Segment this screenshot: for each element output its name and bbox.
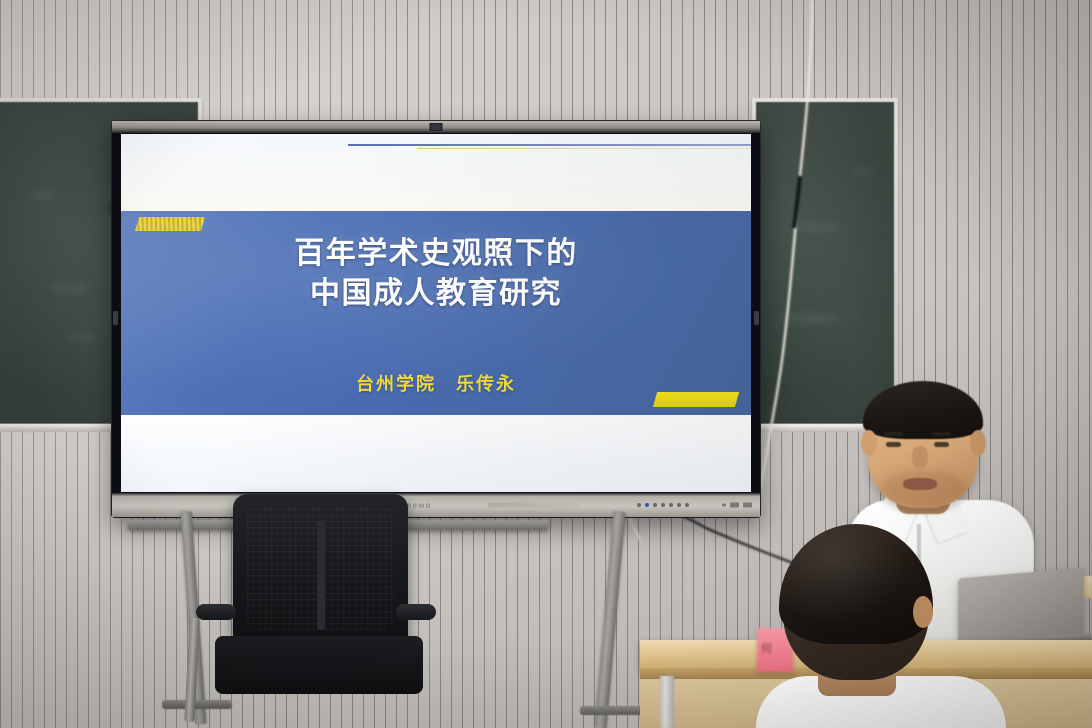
port-usb[interactable] <box>730 503 739 508</box>
desk-leg-left <box>660 676 674 728</box>
presenter-ear-right <box>970 430 986 456</box>
indicator-dot-power[interactable] <box>645 503 649 507</box>
camera-sensor-icon <box>430 123 443 131</box>
indicator-dot <box>637 503 641 507</box>
indicator-dot <box>685 503 689 507</box>
presenter-mouth <box>903 478 937 490</box>
slide-bottom-band <box>121 415 751 492</box>
slide-title-line2: 中国成人教育研究 <box>121 274 751 314</box>
indicator-dot <box>653 503 657 507</box>
bezel-side-right <box>754 311 759 325</box>
indicator-dot <box>661 503 665 507</box>
presenter-eye-right <box>934 442 949 447</box>
decor-stripes-icon <box>135 217 205 231</box>
blackboard-right <box>752 98 898 428</box>
blackboard-right-surface <box>756 102 894 424</box>
bezel-side-left <box>113 311 118 325</box>
slide-top-band <box>121 134 751 211</box>
presenter-brow-right <box>932 432 951 436</box>
chair-armrest-right <box>396 604 436 620</box>
name-card-text: 何 <box>761 640 772 656</box>
chair-armrest-left <box>196 604 236 620</box>
office-chair-back[interactable] <box>233 494 408 644</box>
display-screen[interactable]: 百年学术史观照下的 中国成人教育研究 台州学院 乐传永 <box>121 134 751 492</box>
port-small[interactable] <box>722 504 726 507</box>
presenter-eye-left <box>886 442 901 447</box>
indicator-dot <box>677 503 681 507</box>
presenter-nose <box>912 446 928 468</box>
chair-spine <box>317 520 325 630</box>
bezel-ports[interactable] <box>722 503 752 508</box>
chair-seat <box>215 636 423 694</box>
bezel-indicator-dots <box>637 503 689 507</box>
presenter-ear-left <box>861 430 877 456</box>
bezel-speaker-strip <box>488 503 580 508</box>
indicator-dot <box>669 503 673 507</box>
panel-top-bezel <box>112 121 760 133</box>
slide-subtitle: 台州学院 乐传永 <box>121 370 751 396</box>
presenter-brow-left <box>884 432 903 436</box>
slide-rule-blue <box>348 144 751 146</box>
audience-ear <box>913 596 933 628</box>
slide-title-line1: 百年学术史观照下的 <box>121 234 751 274</box>
interactive-display-panel[interactable]: 百年学术史观照下的 中国成人教育研究 台州学院 乐传永 seewo <box>112 121 760 517</box>
slide-rule-gold <box>417 148 751 149</box>
classroom-photo-scene: 百年学术史观照下的 中国成人教育研究 台州学院 乐传永 seewo <box>0 0 1092 728</box>
slide-title: 百年学术史观照下的 中国成人教育研究 <box>121 234 751 313</box>
port-hdmi[interactable] <box>743 503 752 508</box>
panel-bottom-bezel: seewo <box>112 493 760 517</box>
stand-foot-left <box>162 700 232 709</box>
